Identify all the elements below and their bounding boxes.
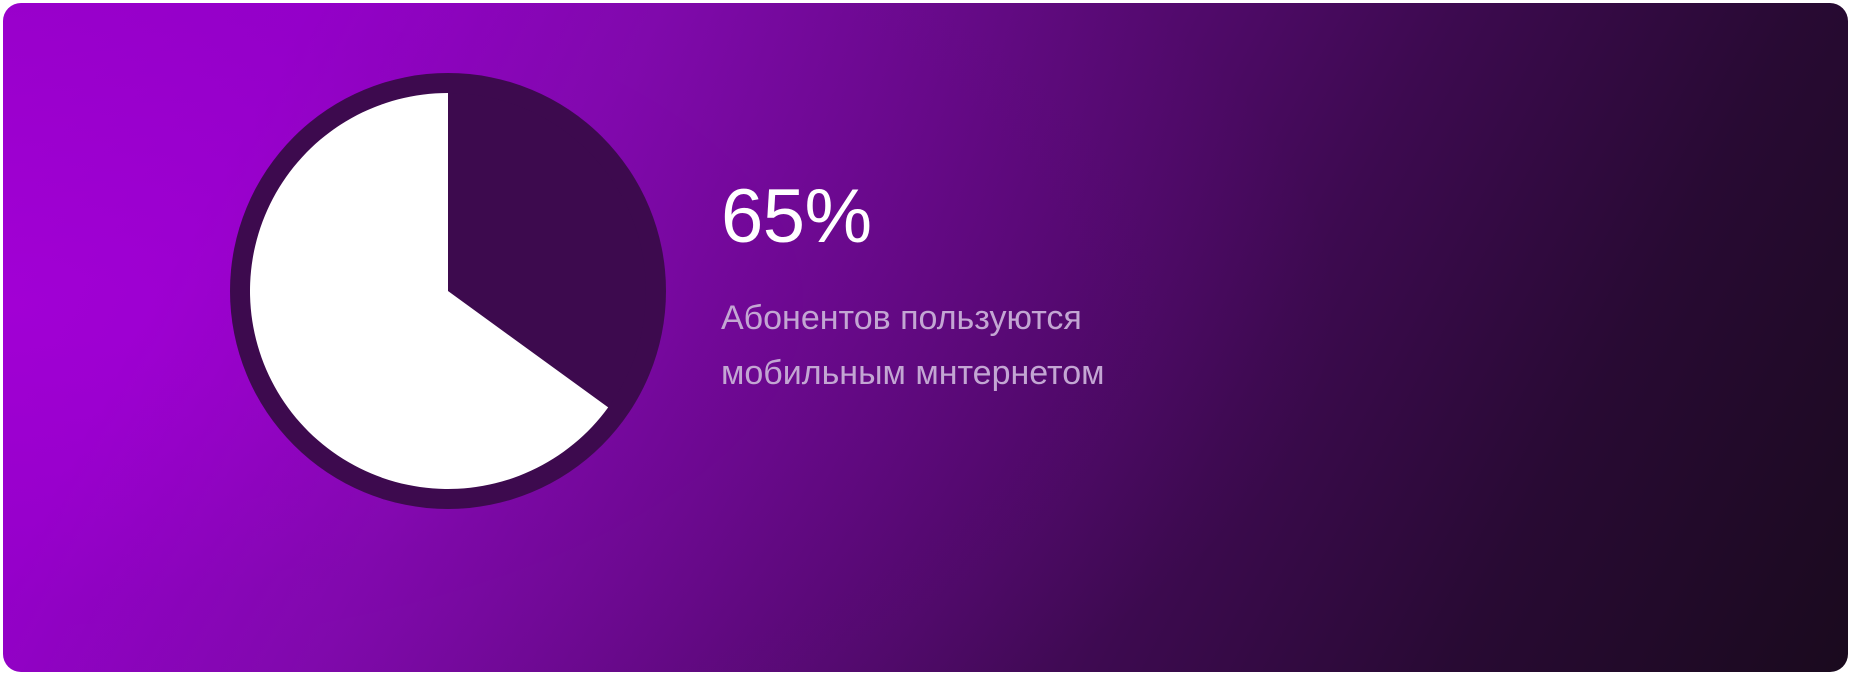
stat-text-block: 65% Абонентов пользуются мобильным мнтер… — [721, 179, 1621, 401]
stat-value: 65% — [721, 179, 1621, 255]
stat-card: 65% Абонентов пользуются мобильным мнтер… — [3, 3, 1848, 672]
stat-caption-line-2: мобильным мнтернетом — [721, 346, 1241, 401]
pie-chart-icon — [230, 73, 666, 509]
pie-chart — [230, 73, 666, 509]
stat-caption-line-1: Абонентов пользуются — [721, 291, 1241, 346]
screenshot-stage: 65% Абонентов пользуются мобильным мнтер… — [0, 0, 1854, 682]
stat-caption: Абонентов пользуются мобильным мнтернето… — [721, 255, 1241, 401]
